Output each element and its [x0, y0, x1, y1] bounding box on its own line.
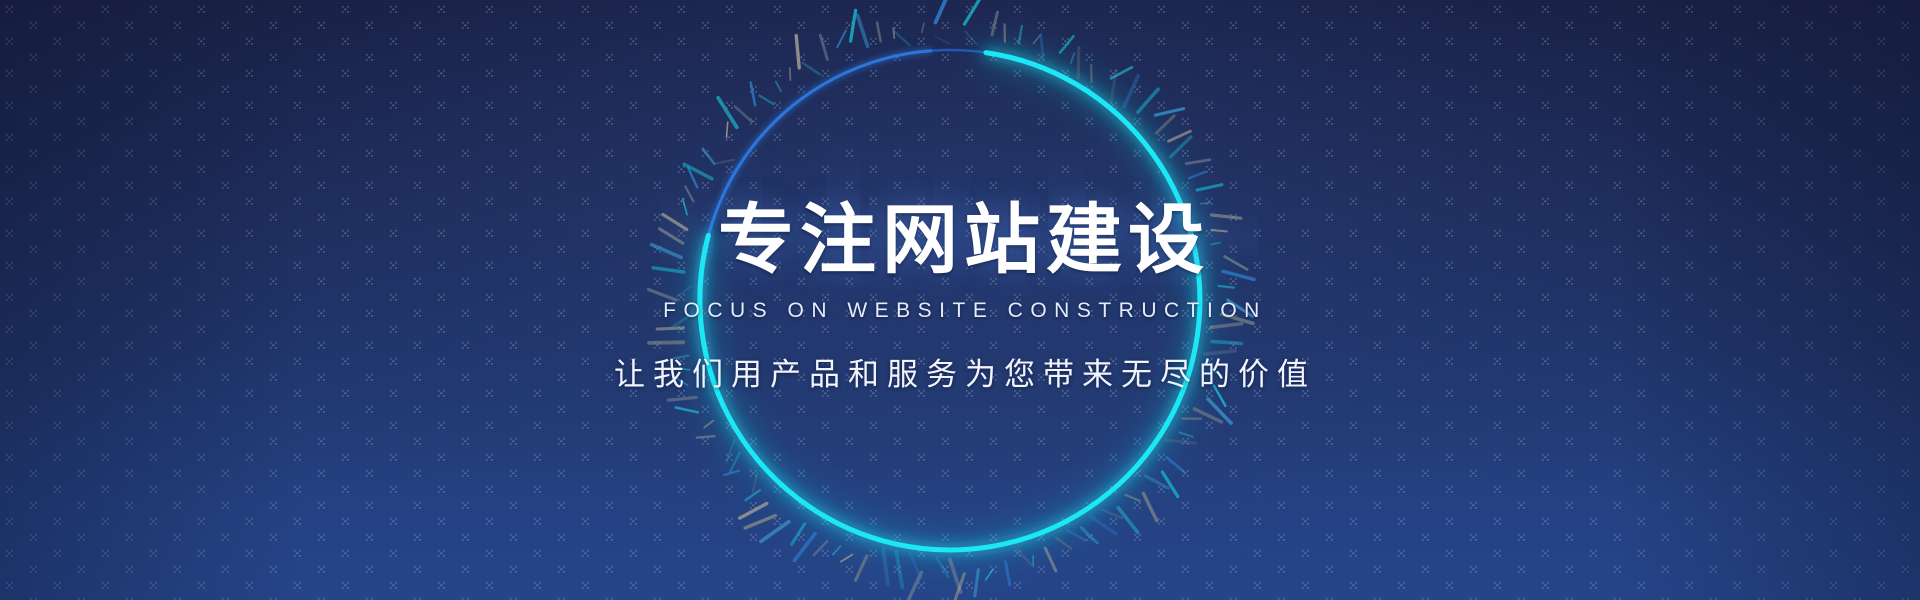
banner-title-en: FOCUS ON WEBSITE CONSTRUCTION	[663, 299, 1267, 323]
hero-banner: 专注网站建设 FOCUS ON WEBSITE CONSTRUCTION 让我们…	[0, 0, 1920, 600]
banner-tagline: 让我们用产品和服务为您带来无尽的价值	[614, 349, 1316, 394]
banner-copy: 专注网站建设 FOCUS ON WEBSITE CONSTRUCTION 让我们…	[0, 0, 1920, 600]
banner-title-cn: 专注网站建设	[718, 200, 1210, 280]
